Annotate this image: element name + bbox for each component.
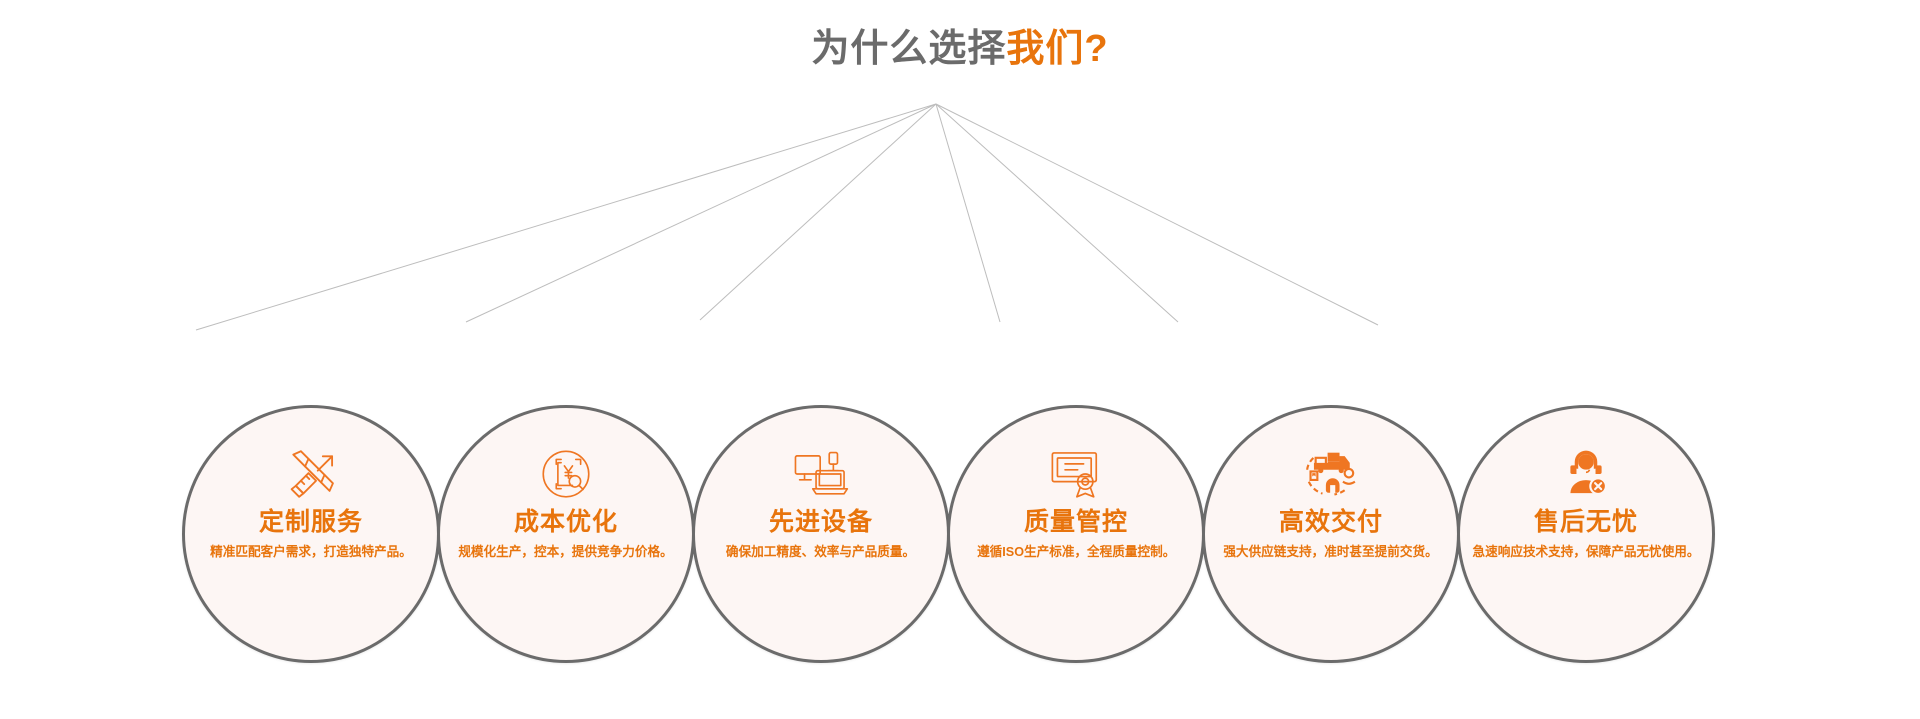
feature-description: 遵循ISO生产标准，全程质量控制。 [977,544,1175,560]
feature-title: 定制服务 [259,508,363,537]
page-title: 为什么选择我们? [0,26,1920,74]
heading-accent-part: 我们? [1006,28,1108,70]
feature-circle-custom-service[interactable]: 定制服务精准匹配客户需求，打造独特产品。 [182,405,440,663]
feature-description: 强大供应链支持，准时甚至提前交货。 [1224,544,1438,560]
feature-circle-after-sales[interactable]: 售后无忧急速响应技术支持，保障产品无忧使用。 [1457,405,1715,663]
feature-title: 成本优化 [514,508,618,537]
infographic-canvas: 为什么选择我们? 定制服务精准匹配客户需求，打造独特产品。成本优化规模化生产，控… [0,0,1920,719]
connector-line-efficient-delivery [936,104,1178,322]
supply-chain-icon [1300,446,1362,502]
certificate-icon [1045,446,1107,502]
feature-description: 精准匹配客户需求，打造独特产品。 [210,544,412,560]
feature-title: 高效交付 [1279,508,1383,537]
connector-line-cost-optimization [466,104,936,322]
feature-circle-advanced-equipment[interactable]: 先进设备确保加工精度、效率与产品质量。 [692,405,950,663]
feature-circle-efficient-delivery[interactable]: 高效交付强大供应链支持，准时甚至提前交货。 [1202,405,1460,663]
connector-line-quality-control [936,104,1000,322]
connector-line-advanced-equipment [700,104,936,320]
workstation-icon [790,446,852,502]
pencil-ruler-icon [280,446,342,502]
feature-title: 质量管控 [1024,508,1128,537]
feature-description: 急速响应技术支持，保障产品无忧使用。 [1472,544,1699,560]
connector-line-custom-service [196,104,936,330]
heading-text: 为什么选择我们? [811,26,1108,74]
feature-description: 规模化生产，控本，提供竞争力价格。 [459,544,673,560]
cost-search-icon [535,446,597,502]
feature-circle-cost-optimization[interactable]: 成本优化规模化生产，控本，提供竞争力价格。 [437,405,695,663]
feature-title: 售后无忧 [1534,508,1638,537]
feature-circle-quality-control[interactable]: 质量管控遵循ISO生产标准，全程质量控制。 [947,405,1205,663]
connector-line-after-sales [936,104,1378,325]
feature-title: 先进设备 [769,508,873,537]
support-agent-icon [1555,446,1617,502]
feature-description: 确保加工精度、效率与产品质量。 [726,544,915,560]
feature-circle-row: 定制服务精准匹配客户需求，打造独特产品。成本优化规模化生产，控本，提供竞争力价格… [0,405,1920,673]
heading-plain-part: 为什么选择 [811,28,1006,70]
